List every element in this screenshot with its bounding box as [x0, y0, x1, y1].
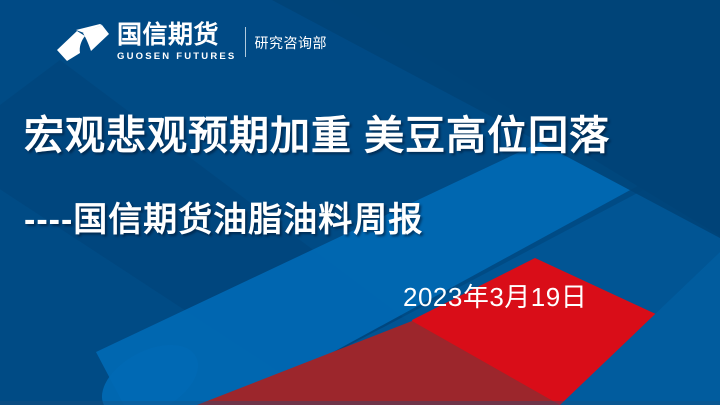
bg-bottom-edge-band — [0, 401, 720, 405]
guosen-rhombus-logo-icon — [55, 20, 111, 64]
brand-name-cn: 国信期货 — [117, 23, 236, 49]
brand-name-en: GUOSEN FUTURES — [117, 51, 236, 63]
slide-main-title: 宏观悲观预期加重 美豆高位回落 — [24, 103, 610, 161]
brand-wordmark: 国信期货 GUOSEN FUTURES — [117, 23, 236, 62]
brand-logo-block: 国信期货 GUOSEN FUTURES 研究咨询部 — [55, 16, 327, 68]
slide-date: 2023年3月19日 — [403, 277, 587, 314]
report-cover-slide: 国信期货 GUOSEN FUTURES 研究咨询部 宏观悲观预期加重 美豆高位回… — [0, 0, 720, 405]
brand-department-label: 研究咨询部 — [254, 33, 327, 53]
slide-subtitle: ----国信期货油脂油料周报 — [24, 192, 423, 241]
brand-divider-line — [245, 27, 246, 57]
